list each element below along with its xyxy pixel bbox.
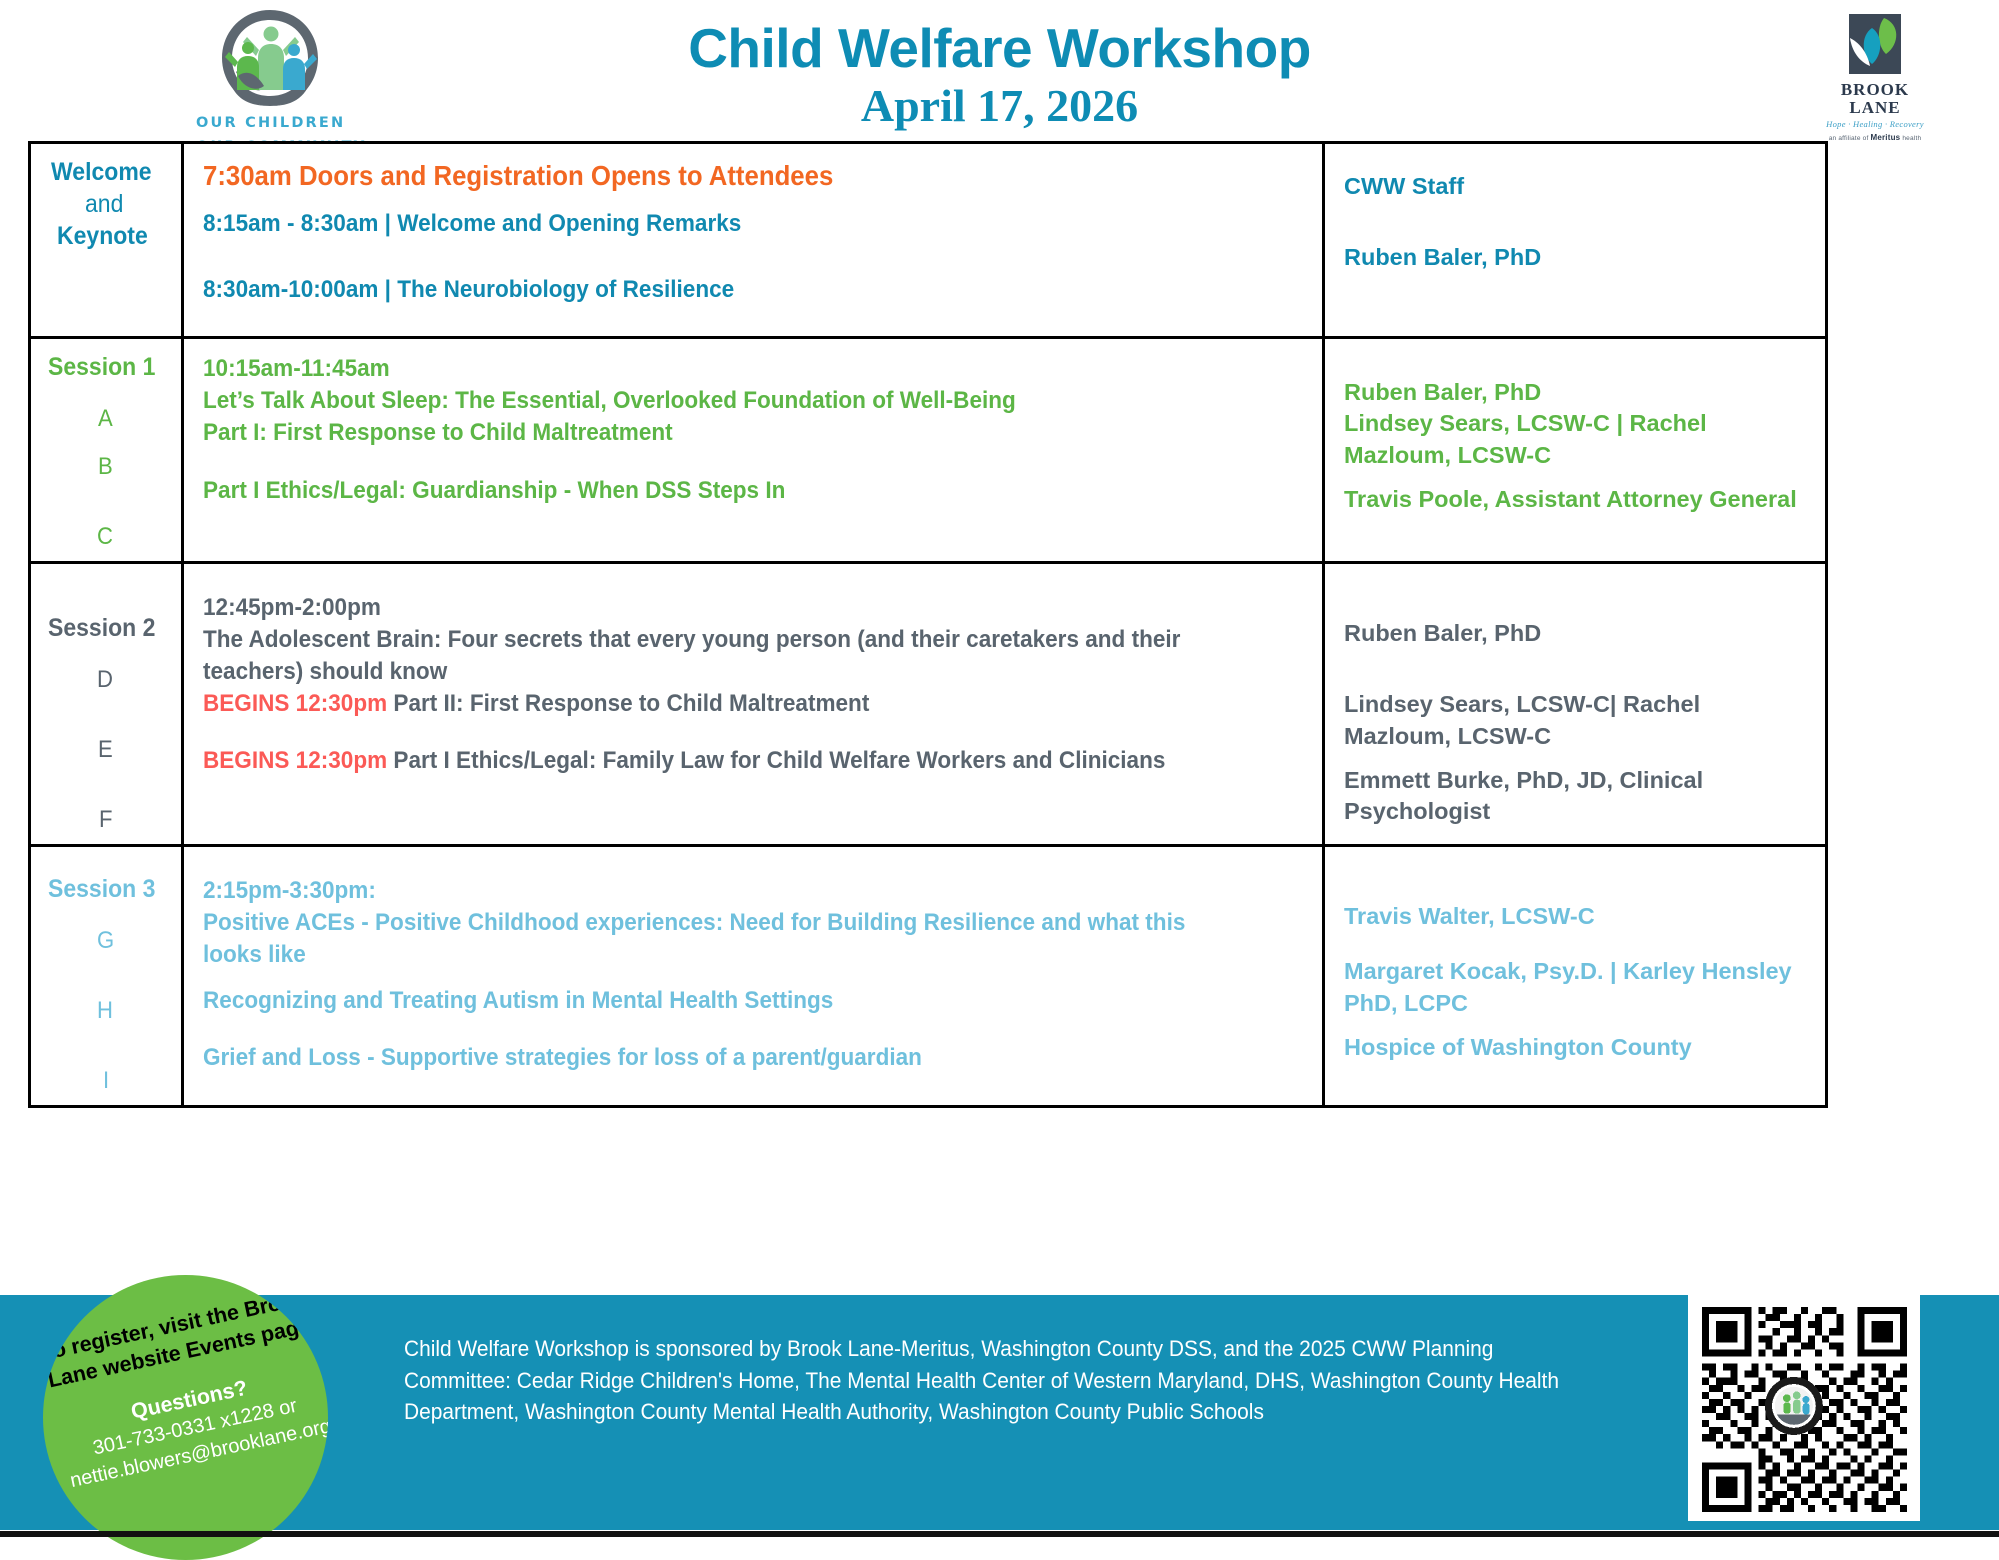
row-label-line2: and [85, 188, 123, 220]
begins-badge: BEGINS 12:30pm [203, 747, 387, 774]
session-item: Part I: First Response to Child Maltreat… [203, 417, 1216, 449]
table-row: Session 3 G H I 2:15pm-3:30pm: Positive … [31, 847, 1825, 1105]
flyer-page: OUR CHILDREN OUR COMMUNITY Child Welfare… [0, 0, 1999, 1545]
presenter-item: CWW Staff [1344, 171, 1811, 202]
session-time: 10:15am-11:45am [203, 353, 1216, 385]
page-title: Child Welfare Workshop [0, 20, 1999, 78]
row-presenters-session-1: Ruben Baler, PhD Lindsey Sears, LCSW-C |… [1325, 339, 1825, 561]
session-letter-i: I [103, 1069, 109, 1093]
session-item: Recognizing and Treating Autism in Menta… [203, 985, 1216, 1017]
brook-lane-leaf-logo-icon [1838, 14, 1912, 80]
session-item: The Adolescent Brain: Four secrets that … [203, 624, 1216, 688]
session-item: 7:30am Doors and Registration Opens to A… [203, 158, 1216, 194]
session-item-text: Part I Ethics/Legal: Family Law for Chil… [393, 747, 1165, 774]
row-label-session-3: Session 3 G H I [31, 847, 184, 1105]
session-letter-c: C [97, 525, 113, 549]
presenter-item: Margaret Kocak, Psy.D. | Karley Hensley … [1344, 956, 1811, 1019]
session-item: Positive ACEs - Positive Childhood exper… [203, 907, 1216, 971]
sponsor-text: Child Welfare Workshop is sponsored by B… [404, 1333, 1562, 1428]
brook-lane-name-line2: LANE [1785, 99, 1965, 116]
presenter-item: Ruben Baler, PhD [1344, 377, 1811, 408]
row-sessions-session-2: 12:45pm-2:00pm The Adolescent Brain: Fou… [184, 564, 1325, 844]
event-date: April 17, 2026 [0, 80, 1999, 133]
brook-lane-tagline: Hope · Healing · Recovery [1785, 119, 1965, 129]
presenter-item: Lindsey Sears, LCSW-C| Rachel Mazloum, L… [1344, 689, 1811, 752]
session-item: BEGINS 12:30pm Part II: First Response t… [203, 688, 1216, 720]
table-row: Session 1 A B C 10:15am-11:45am Let’s Ta… [31, 339, 1825, 564]
presenter-item: Hospice of Washington County [1344, 1032, 1811, 1063]
schedule-table: Welcome and Keynote 7:30am Doors and Reg… [28, 141, 1828, 1108]
row-label-line1: Welcome [51, 156, 152, 188]
affiliate-prefix: an affiliate of [1829, 135, 1869, 142]
affiliate-name: Meritus [1870, 133, 1900, 142]
qr-code-card[interactable] [1688, 1295, 1920, 1521]
brook-lane-name-line1: BROOK [1785, 81, 1965, 98]
session-item: Grief and Loss - Supportive strategies f… [203, 1042, 1216, 1074]
begins-badge: BEGINS 12:30pm [203, 690, 387, 717]
session-letter-h: H [97, 999, 113, 1023]
presenter-item: Lindsey Sears, LCSW-C | Rachel Mazloum, … [1344, 408, 1811, 471]
registration-badge[interactable]: To register, visit the Brook Lane websit… [43, 1275, 328, 1560]
row-label-line3: Keynote [57, 220, 148, 252]
session-time: 2:15pm-3:30pm: [203, 875, 1216, 907]
presenter-item: Ruben Baler, PhD [1344, 242, 1811, 273]
session-letter-b: B [98, 455, 113, 479]
row-label-title: Session 2 [48, 612, 155, 644]
presenter-item: Travis Walter, LCSW-C [1344, 901, 1811, 932]
row-sessions-welcome: 7:30am Doors and Registration Opens to A… [184, 144, 1325, 336]
session-letter-d: D [97, 668, 113, 692]
session-item: BEGINS 12:30pm Part I Ethics/Legal: Fami… [203, 745, 1216, 777]
row-label-title: Session 3 [48, 873, 155, 905]
row-label-session-1: Session 1 A B C [31, 339, 184, 561]
row-label-welcome: Welcome and Keynote [31, 144, 184, 336]
session-item: Let’s Talk About Sleep: The Essential, O… [203, 385, 1216, 417]
session-letter-a: A [98, 407, 113, 431]
session-letter-e: E [98, 738, 113, 762]
table-row: Session 2 D E F 12:45pm-2:00pm The Adole… [31, 564, 1825, 847]
row-label-title: Session 1 [48, 351, 155, 383]
row-presenters-session-3: Travis Walter, LCSW-C Margaret Kocak, Ps… [1325, 847, 1825, 1105]
presenter-item: Emmett Burke, PhD, JD, Clinical Psycholo… [1344, 765, 1811, 828]
row-presenters-session-2: Ruben Baler, PhD Lindsey Sears, LCSW-C| … [1325, 564, 1825, 844]
presenter-item: Travis Poole, Assistant Attorney General [1344, 484, 1811, 515]
row-label-session-2: Session 2 D E F [31, 564, 184, 844]
row-sessions-session-1: 10:15am-11:45am Let’s Talk About Sleep: … [184, 339, 1325, 561]
brook-lane-logo: BROOK LANE Hope · Healing · Recovery an … [1785, 14, 1965, 142]
row-presenters-welcome: CWW Staff Ruben Baler, PhD [1325, 144, 1825, 336]
session-item: 8:30am-10:00am | The Neurobiology of Res… [203, 274, 1216, 306]
session-letter-g: G [97, 929, 114, 953]
session-item-text: Part II: First Response to Child Maltrea… [393, 690, 869, 717]
session-letter-f: F [99, 808, 112, 832]
table-row: Welcome and Keynote 7:30am Doors and Reg… [31, 144, 1825, 339]
session-item: 8:15am - 8:30am | Welcome and Opening Re… [203, 208, 1216, 240]
qr-code-registration-icon[interactable] [1702, 1307, 1907, 1512]
title-block: Child Welfare Workshop April 17, 2026 [0, 20, 1999, 133]
session-time: 12:45pm-2:00pm [203, 592, 1216, 624]
presenter-item: Ruben Baler, PhD [1344, 618, 1811, 649]
bottom-divider [0, 1531, 1999, 1537]
affiliate-suffix: health [1902, 135, 1921, 142]
session-item: Part I Ethics/Legal: Guardianship - When… [203, 475, 1216, 507]
row-sessions-session-3: 2:15pm-3:30pm: Positive ACEs - Positive … [184, 847, 1325, 1105]
